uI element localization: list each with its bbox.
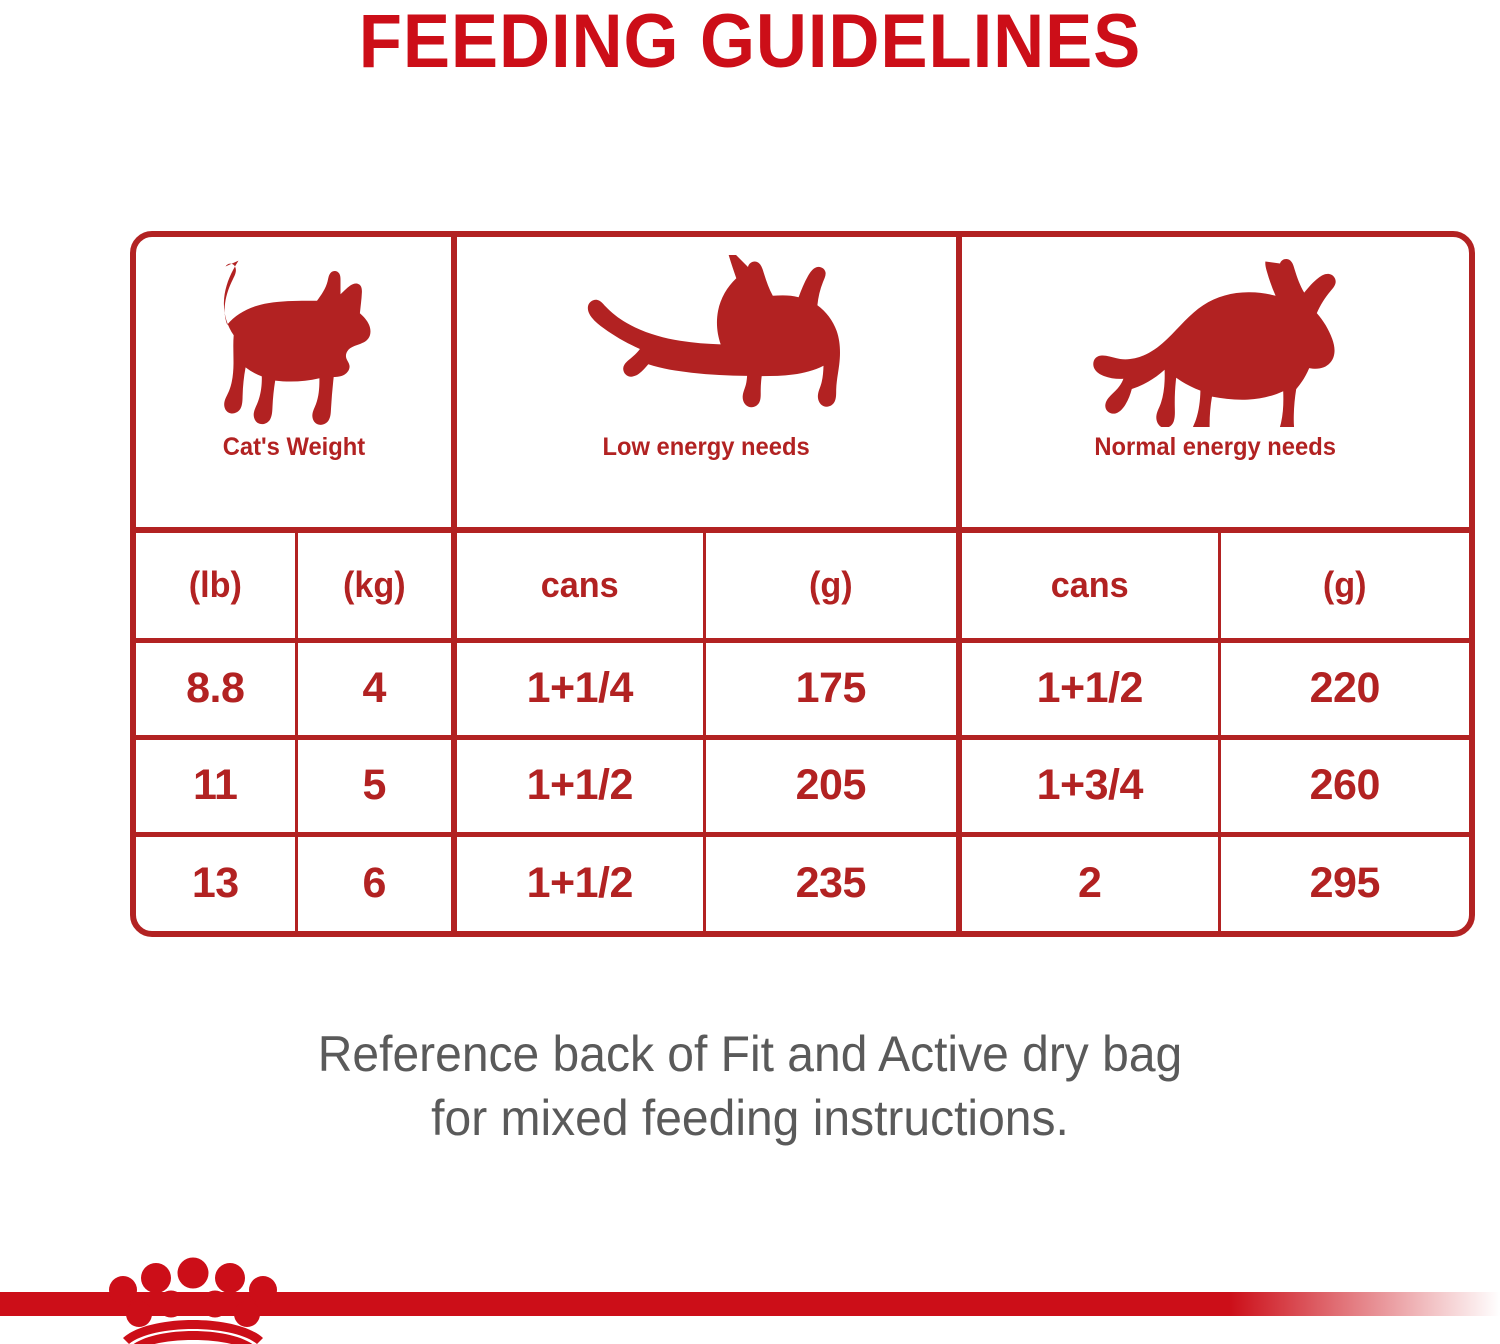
feeding-guidelines-table: Cat's Weight Low energy needs [130,231,1475,937]
cell-low-g: 235 [704,834,959,931]
cell-normal-g: 260 [1219,737,1469,834]
footnote-line-2: for mixed feeding instructions. [30,1086,1470,1150]
group-header-label: Low energy needs [603,433,810,462]
group-header-label: Normal energy needs [1095,433,1337,462]
unit-header-kg: (kg) [300,530,450,640]
cell-low-cans: 1+1/4 [454,640,704,737]
cell-weight-kg: 5 [296,737,454,834]
footnote: Reference back of Fit and Active dry bag… [30,1022,1470,1150]
table-row: 8.8 4 1+1/4 175 1+1/2 220 [136,640,1469,737]
page-title: FEEDING GUIDELINES [53,2,1448,82]
standing-cat-icon [201,255,387,427]
lying-cat-icon [552,255,862,427]
table-group-header-row: Cat's Weight Low energy needs [136,237,1469,530]
cell-low-g: 205 [704,737,959,834]
footnote-line-1: Reference back of Fit and Active dry bag [30,1022,1470,1086]
feeding-guidelines-panel: FEEDING GUIDELINES [0,0,1500,1344]
group-header-normal-energy: Normal energy needs [959,237,1469,530]
table-row: 11 5 1+1/2 205 1+3/4 260 [136,737,1469,834]
group-header-cats-weight: Cat's Weight [136,237,454,530]
cell-weight-kg: 6 [296,834,454,931]
cell-normal-g: 295 [1219,834,1469,931]
cell-normal-cans: 2 [959,834,1219,931]
unit-header-low-cans: cans [460,530,698,640]
table-unit-header-row: (lb) (kg) cans (g) cans (g) [136,530,1469,640]
royal-canin-crown-logo [105,1256,281,1344]
cell-weight-lb: 11 [136,737,296,834]
cell-weight-lb: 13 [136,834,296,931]
cell-low-cans: 1+1/2 [454,834,704,931]
cell-normal-g: 220 [1219,640,1469,737]
unit-header-normal-g: (g) [1225,530,1463,640]
group-header-label: Cat's Weight [222,433,364,462]
unit-header-low-g: (g) [710,530,952,640]
cell-normal-cans: 1+3/4 [959,737,1219,834]
cell-weight-lb: 8.8 [136,640,296,737]
group-header-low-energy: Low energy needs [454,237,959,530]
cell-low-cans: 1+1/2 [454,737,704,834]
unit-header-normal-cans: cans [966,530,1213,640]
cell-weight-kg: 4 [296,640,454,737]
walking-cat-icon [1066,255,1366,427]
cell-normal-cans: 1+1/2 [959,640,1219,737]
unit-header-lb: (lb) [140,530,292,640]
brand-bar-right [268,1292,1500,1316]
table-row: 13 6 1+1/2 235 2 295 [136,834,1469,931]
cell-low-g: 175 [704,640,959,737]
